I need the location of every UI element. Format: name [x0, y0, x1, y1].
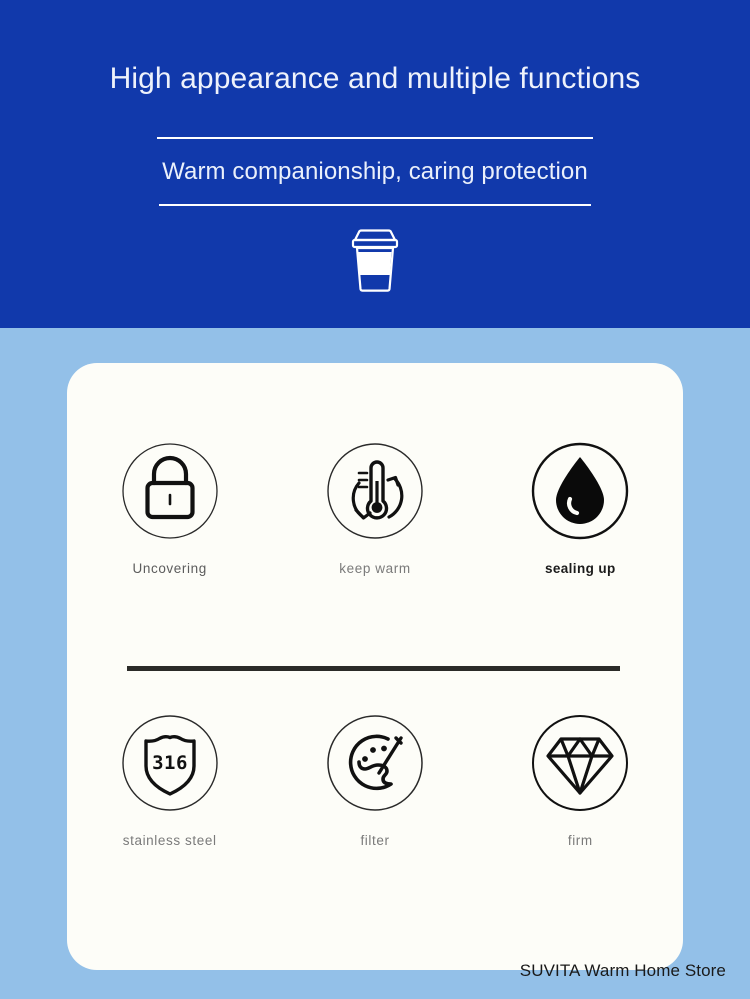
feature-item-stainless-steel[interactable]: 316 stainless steel	[67, 713, 272, 848]
section-divider-bar	[127, 666, 620, 671]
feature-item-sealing-up[interactable]: sealing up	[478, 441, 683, 576]
shield-316-icon: 316	[120, 713, 220, 813]
padlock-icon	[120, 441, 220, 541]
page-title: High appearance and multiple functions	[110, 62, 641, 97]
header-section: High appearance and multiple functions W…	[0, 0, 750, 328]
page-subtitle: Warm companionship, caring protection	[162, 158, 588, 186]
features-card: Uncovering	[67, 363, 683, 970]
store-name: SUVITA Warm Home Store	[520, 961, 726, 981]
feature-item-filter[interactable]: filter	[272, 713, 477, 848]
feature-item-uncovering[interactable]: Uncovering	[67, 441, 272, 576]
product-feature-banner: High appearance and multiple functions W…	[0, 0, 750, 999]
divider-line-top	[157, 137, 593, 139]
feature-label: keep warm	[339, 561, 410, 576]
water-drop-icon	[530, 441, 630, 541]
paint-palette-icon	[325, 713, 425, 813]
shield-value: 316	[152, 752, 188, 774]
thermometer-cycle-icon	[325, 441, 425, 541]
coffee-cup-icon	[346, 227, 404, 293]
feature-item-firm[interactable]: firm	[478, 713, 683, 848]
feature-label: stainless steel	[123, 833, 217, 848]
feature-row-bottom: 316 stainless steel	[67, 713, 683, 848]
feature-label: sealing up	[545, 561, 616, 576]
feature-label: Uncovering	[133, 561, 207, 576]
feature-label: filter	[360, 833, 389, 848]
feature-label: firm	[568, 833, 593, 848]
diamond-icon	[530, 713, 630, 813]
divider-line-bottom	[159, 204, 591, 206]
feature-item-keep-warm[interactable]: keep warm	[272, 441, 477, 576]
feature-row-top: Uncovering	[67, 441, 683, 576]
